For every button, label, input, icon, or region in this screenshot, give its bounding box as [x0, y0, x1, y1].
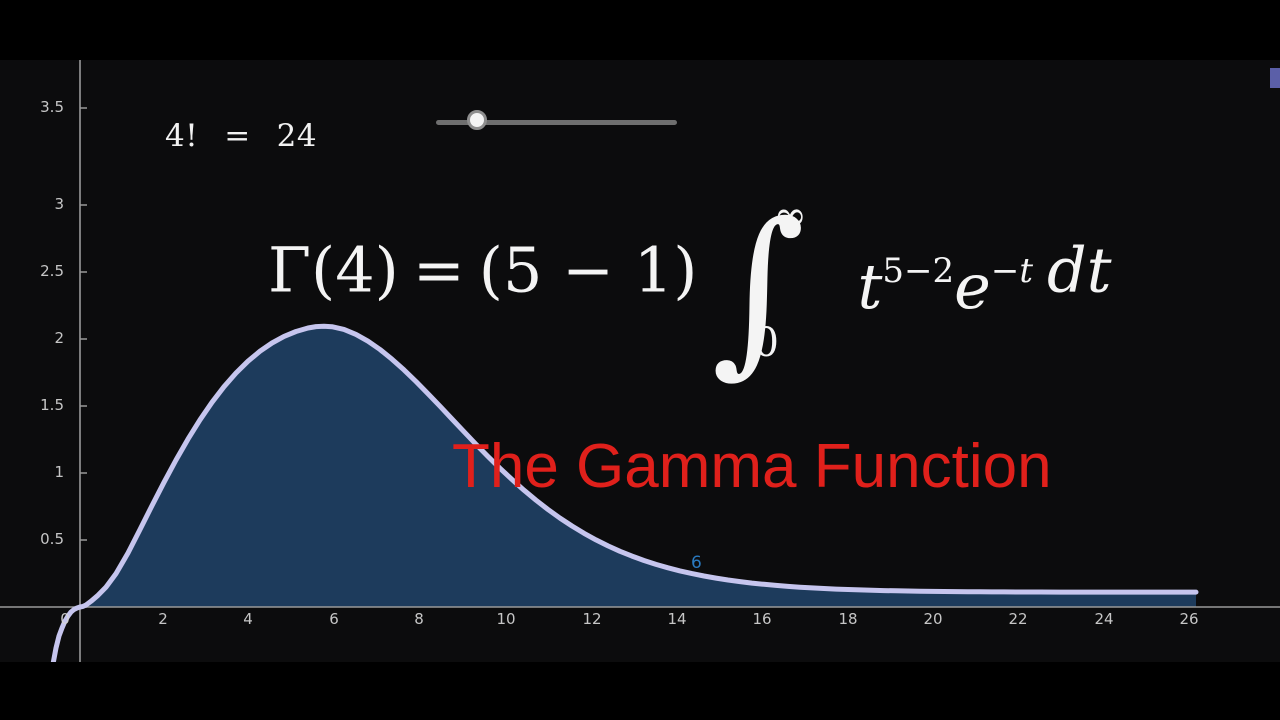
gamma-formula: Γ(4)=(5 − 1)∫∞0t5−2e−tdt — [268, 192, 1112, 382]
formula-coefficient: (5 − 1) — [479, 234, 698, 307]
y-tick-label-0.5: 0.5 — [16, 532, 64, 547]
y-axis-ticks — [80, 108, 87, 607]
x-tick-label-12: 12 — [575, 612, 609, 627]
integral-upper-limit: ∞ — [773, 196, 806, 236]
exp-base: e — [954, 250, 991, 323]
x-tick-label-16: 16 — [745, 612, 779, 627]
y-tick-label-3.5: 3.5 — [16, 100, 64, 115]
integral-group: ∫∞0 — [711, 192, 843, 382]
formula-equals: = — [413, 234, 465, 307]
integral-lower-limit: 0 — [753, 323, 778, 363]
factorial-result: 24 — [277, 118, 317, 154]
y-tick-label-2: 2 — [16, 331, 64, 346]
x-tick-label-24: 24 — [1087, 612, 1121, 627]
x-tick-label-18: 18 — [831, 612, 865, 627]
y-tick-label-2.5: 2.5 — [16, 264, 64, 279]
screen: 3.5 3 2.5 2 1.5 1 0.5 0 2 4 6 8 10 12 14… — [0, 0, 1280, 720]
y-tick-label-3: 3 — [16, 197, 64, 212]
slider-thumb[interactable] — [467, 110, 487, 130]
differential: dt — [1047, 234, 1112, 307]
x-tick-label-0: 0 — [50, 612, 80, 627]
exponential-term: e−t — [954, 256, 1033, 318]
integrand-exponent: 5−2 — [882, 251, 954, 291]
x-tick-label-14: 14 — [660, 612, 694, 627]
letterbox-bottom — [0, 662, 1280, 720]
y-tick-label-1.5: 1.5 — [16, 398, 64, 413]
factorial-equation: 4!=24 — [165, 118, 317, 154]
letterbox-top — [0, 0, 1280, 60]
x-tick-label-6: 6 — [319, 612, 349, 627]
x-tick-label-4: 4 — [233, 612, 263, 627]
right-edge-marker — [1270, 68, 1280, 88]
x-tick-label-26: 26 — [1172, 612, 1206, 627]
factorial-operator: = — [224, 118, 250, 154]
exp-exponent: −t — [991, 251, 1033, 291]
x-tick-label-8: 8 — [404, 612, 434, 627]
y-tick-label-1: 1 — [16, 465, 64, 480]
formula-lhs: Γ(4) — [268, 234, 399, 307]
x-tick-label-10: 10 — [489, 612, 523, 627]
integral-value-annotation: 6 — [691, 555, 702, 572]
factorial-left-term: 4! — [165, 118, 198, 154]
x-tick-label-22: 22 — [1001, 612, 1035, 627]
n-slider[interactable] — [436, 116, 677, 130]
page-title: The Gamma Function — [452, 436, 1052, 498]
integrand-power-term: t5−2 — [857, 256, 954, 318]
x-tick-label-2: 2 — [148, 612, 178, 627]
integrand-base: t — [857, 250, 882, 323]
x-tick-label-20: 20 — [916, 612, 950, 627]
